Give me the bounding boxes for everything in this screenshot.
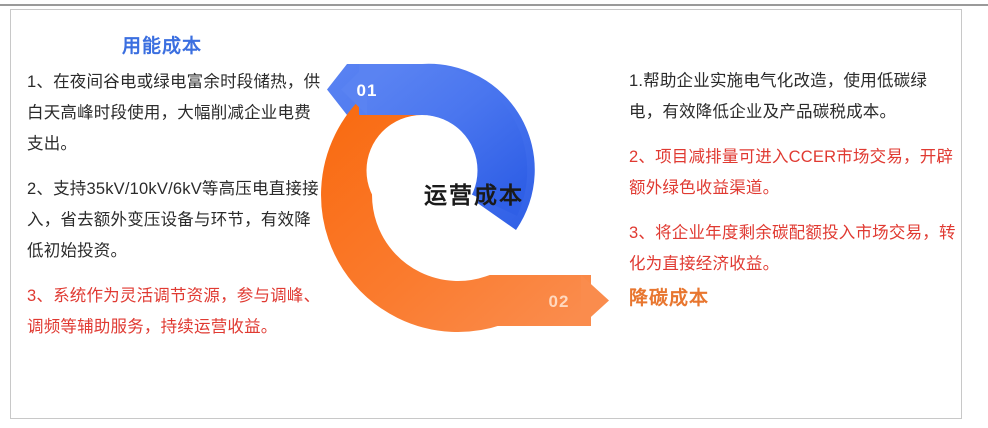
top-divider-rule xyxy=(0,4,988,6)
segment-01-badge: 01 xyxy=(357,81,378,100)
left-item-2: 2、支持35kV/10kV/6kV等高压电直接接入，省去额外变压设备与环节，有效… xyxy=(27,174,327,267)
left-item-3: 3、系统作为灵活调节资源，参与调峰、调频等辅助服务，持续运营收益。 xyxy=(27,281,327,343)
content-frame: 用能成本 1、在夜间谷电或绿电富余时段储热，供白天高峰时段使用，大幅削减企业电费… xyxy=(10,9,962,419)
left-item-1: 1、在夜间谷电或绿电富余时段储热，供白天高峰时段使用，大幅削减企业电费支出。 xyxy=(27,67,327,160)
left-column: 用能成本 1、在夜间谷电或绿电富余时段储热，供白天高峰时段使用，大幅削减企业电费… xyxy=(27,36,327,343)
left-column-heading: 用能成本 xyxy=(27,36,297,59)
cycle-diagram-svg: 01 02 xyxy=(319,50,629,335)
right-item-1: 1.帮助企业实施电气化改造，使用低碳绿电，有效降低企业及产品碳税成本。 xyxy=(629,66,959,128)
right-column: 1.帮助企业实施电气化改造，使用低碳绿电，有效降低企业及产品碳税成本。 2、项目… xyxy=(629,66,959,311)
right-item-2: 2、项目减排量可进入CCER市场交易，开辟额外绿色收益渠道。 xyxy=(629,142,959,204)
cycle-diagram: 01 02 运营成本 xyxy=(319,50,629,335)
right-column-heading: 降碳成本 xyxy=(629,288,959,311)
diagram-inner-disc xyxy=(367,115,478,226)
right-item-3: 3、将企业年度剩余碳配额投入市场交易，转化为直接经济收益。 xyxy=(629,218,959,280)
segment-02-badge: 02 xyxy=(549,292,570,311)
